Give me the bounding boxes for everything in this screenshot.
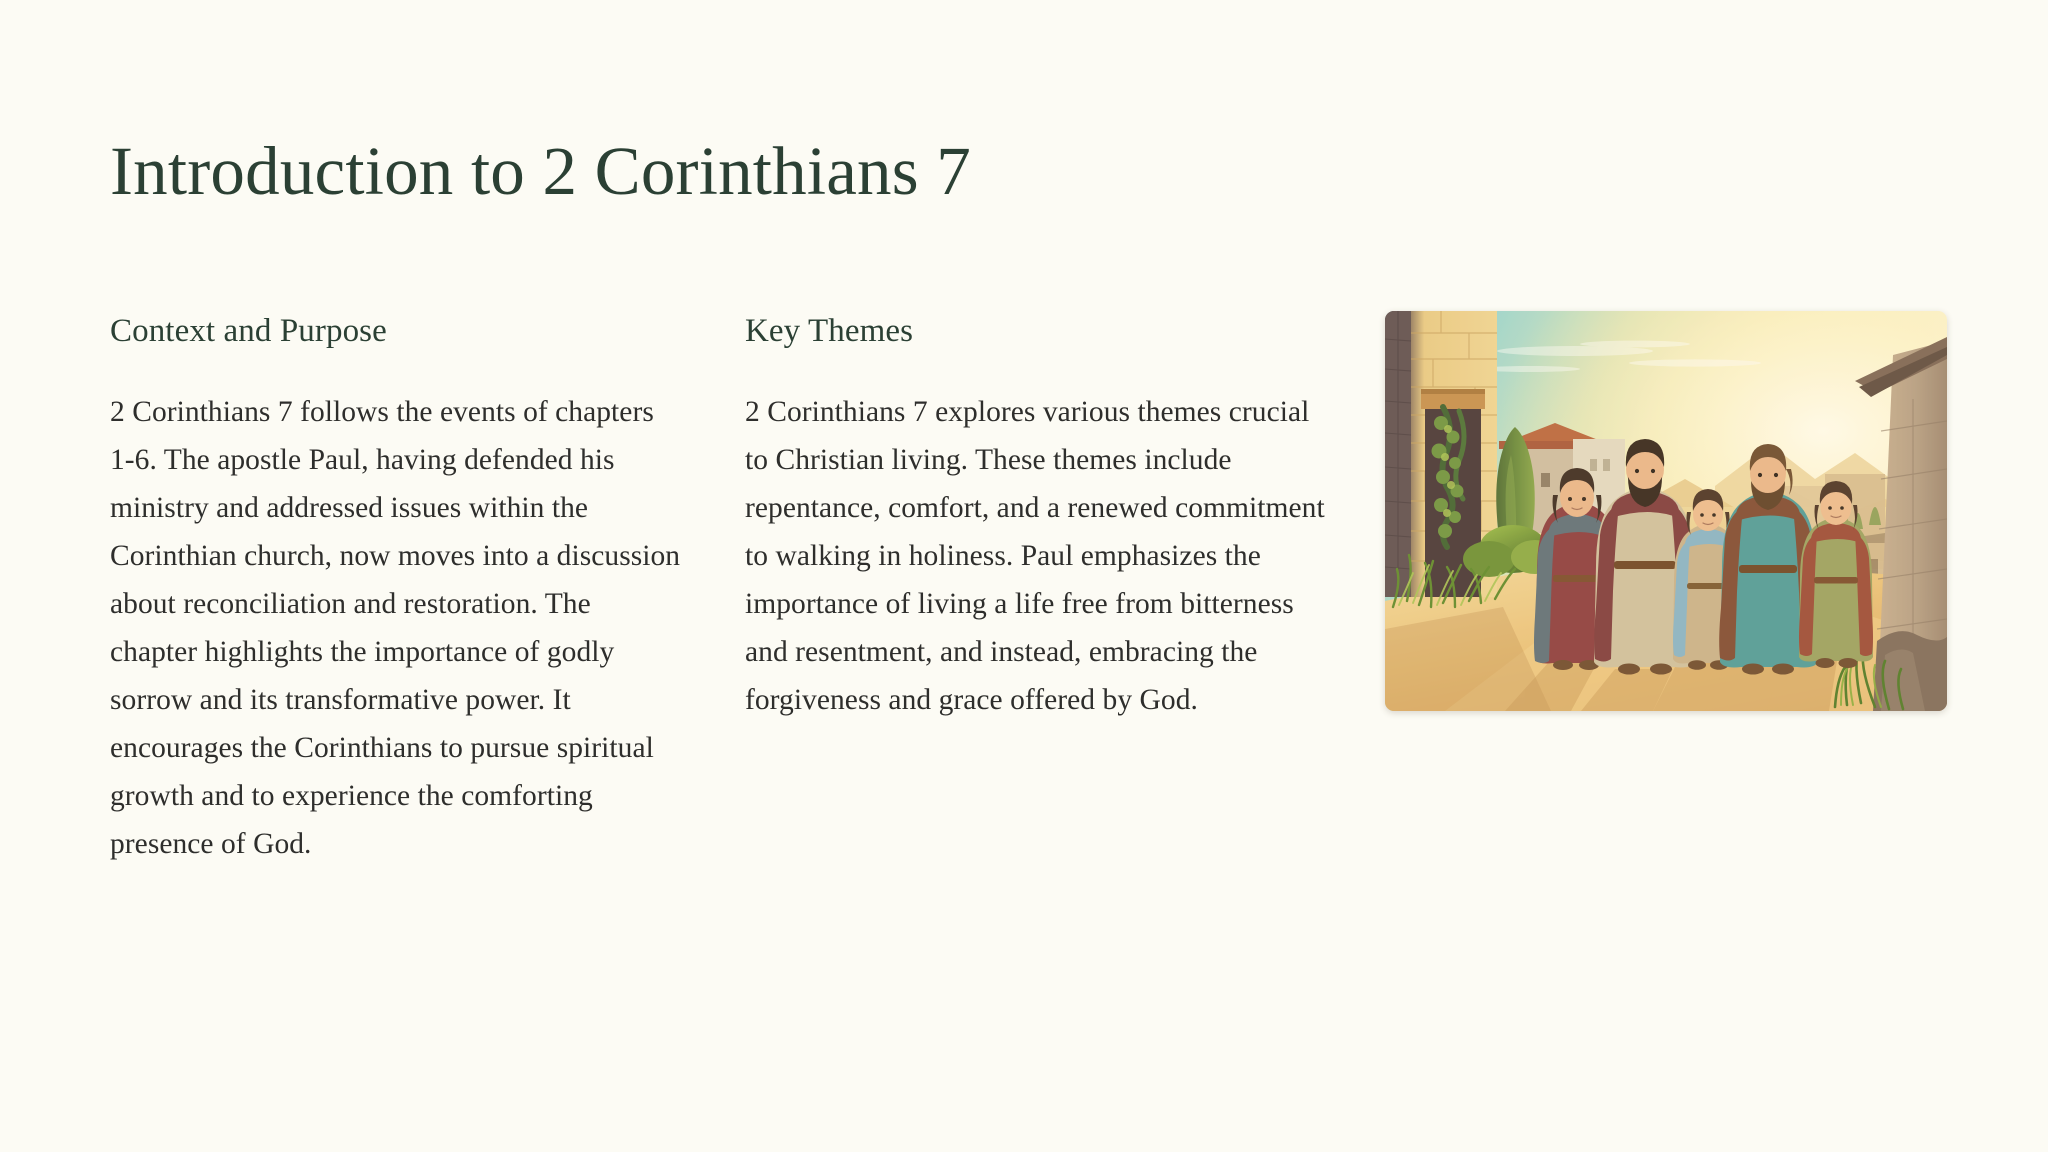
section-body-context-and-purpose: 2 Corinthians 7 follows the events of ch… [110, 388, 683, 869]
section-heading-key-themes: Key Themes [745, 312, 1325, 352]
illustration-artwork [1385, 311, 1947, 711]
section-heading-context-and-purpose: Context and Purpose [110, 312, 690, 352]
chapter-illustration [1385, 311, 1947, 711]
slide-page: Introduction to 2 Corinthians 7 Context … [0, 0, 2048, 1152]
section-body-key-themes: 2 Corinthians 7 explores various themes … [745, 388, 1325, 725]
page-title: Introduction to 2 Corinthians 7 [110, 132, 971, 211]
column-key-themes: Key Themes 2 Corinthians 7 explores vari… [745, 312, 1325, 724]
column-context-and-purpose: Context and Purpose 2 Corinthians 7 foll… [110, 312, 690, 868]
